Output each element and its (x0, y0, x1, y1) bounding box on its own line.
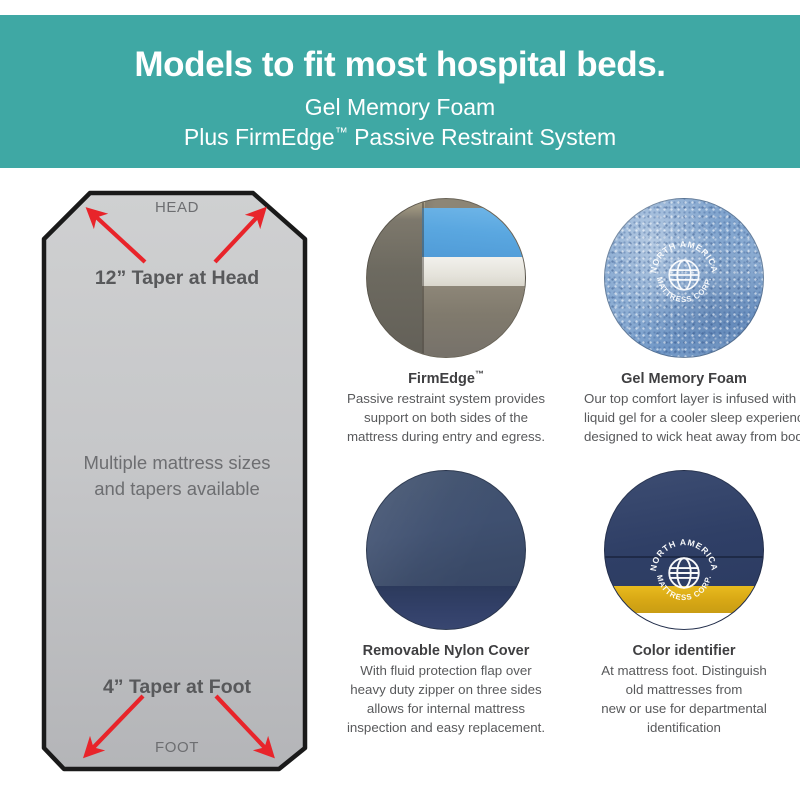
desc-line: old mattresses from (584, 681, 784, 700)
banner-subtitle: Gel Memory Foam Plus FirmEdge™ Passive R… (0, 83, 800, 153)
desc-line: heavy duty zipper on three sides (346, 681, 546, 700)
feature-description-removable-nylon-cover: With fluid protection flap over heavy du… (346, 662, 546, 738)
white-base-band (604, 613, 764, 630)
color-identifier-photo: NORTH AMERICA MATTRESS CORP. (604, 470, 764, 630)
north-america-mattress-corp-logo-icon: NORTH AMERICA MATTRESS CORP. (643, 532, 725, 614)
feature-firmedge: FirmEdge™ Passive restraint system provi… (346, 190, 546, 447)
svg-text:NORTH AMERICA: NORTH AMERICA (648, 537, 720, 572)
desc-line: Our top comfort layer is infused with (584, 390, 784, 409)
desc-line: allows for internal mattress (346, 700, 546, 719)
firmedge-foam-layers-photo (366, 198, 526, 358)
mattress-diagram: HEAD 12” Taper at Head Multiple mattress… (38, 186, 316, 776)
mattress-center-note: Multiple mattress sizes and tapers avail… (38, 450, 316, 503)
feature-gel-memory-foam: NORTH AMERICA MATTRESS CORP. Gel Memory … (584, 190, 784, 447)
svg-text:NORTH AMERICA: NORTH AMERICA (648, 239, 720, 274)
feature-title-text: FirmEdge (408, 371, 475, 387)
feature-grid: FirmEdge™ Passive restraint system provi… (330, 190, 800, 780)
foam-layer-grey (422, 286, 525, 358)
feature-description-color-identifier: At mattress foot. Distinguish old mattre… (584, 662, 784, 738)
banner-subtitle-line-1: Gel Memory Foam (0, 92, 800, 122)
trademark-symbol: ™ (475, 369, 484, 379)
desc-line: support on both sides of the (346, 409, 546, 428)
feature-title-text: Color identifier (632, 643, 735, 659)
banner-subtitle-line-2-after: Passive Restraint System (348, 124, 616, 150)
mattress-center-note-line-2: and tapers available (38, 476, 316, 502)
desc-line: liquid gel for a cooler sleep experience (584, 409, 784, 428)
nylon-lower-panel (366, 586, 526, 630)
foam-layer-white (422, 257, 525, 289)
mattress-foot-label: FOOT (38, 739, 316, 756)
feature-removable-nylon-cover: Removable Nylon Cover With fluid protect… (346, 462, 546, 738)
mattress-taper-head-label: 12” Taper at Head (38, 267, 316, 290)
feature-title-text: Removable Nylon Cover (363, 643, 530, 659)
mattress-head-label: HEAD (38, 199, 316, 216)
desc-line: With fluid protection flap over (346, 662, 546, 681)
feature-title-text: Gel Memory Foam (621, 371, 747, 387)
feature-description-gel-memory-foam: Our top comfort layer is infused with li… (584, 390, 784, 447)
desc-line: Passive restraint system provides (346, 390, 546, 409)
nylon-sheen-highlight (367, 471, 525, 588)
header-banner: Models to fit most hospital beds. Gel Me… (0, 15, 800, 168)
trademark-symbol: ™ (335, 124, 348, 139)
foam-seam-line (422, 199, 424, 357)
feature-color-identifier: NORTH AMERICA MATTRESS CORP. Color ident… (584, 462, 784, 738)
mattress-center-note-line-1: Multiple mattress sizes (38, 450, 316, 476)
feature-title-removable-nylon-cover: Removable Nylon Cover (346, 642, 546, 660)
feature-title-color-identifier: Color identifier (584, 642, 784, 660)
feature-title-firmedge: FirmEdge™ (346, 370, 546, 388)
north-america-mattress-corp-logo-icon: NORTH AMERICA MATTRESS CORP. (643, 234, 725, 316)
removable-nylon-cover-photo (366, 470, 526, 630)
mattress-taper-foot-label: 4” Taper at Foot (38, 676, 316, 699)
feature-title-gel-memory-foam: Gel Memory Foam (584, 370, 784, 388)
feature-description-firmedge: Passive restraint system provides suppor… (346, 390, 546, 447)
desc-line: identification (584, 719, 784, 738)
page-title: Models to fit most hospital beds. (0, 15, 800, 83)
desc-line: inspection and easy replacement. (346, 719, 546, 738)
banner-subtitle-line-2: Plus FirmEdge™ Passive Restraint System (0, 122, 800, 152)
desc-line: mattress during entry and egress. (346, 428, 546, 447)
foam-side-edge (367, 199, 425, 357)
desc-line: At mattress foot. Distinguish (584, 662, 784, 681)
foam-layer-blue (422, 208, 525, 260)
desc-line: new or use for departmental (584, 700, 784, 719)
desc-line: designed to wick heat away from body (584, 428, 784, 447)
gel-memory-foam-photo: NORTH AMERICA MATTRESS CORP. (604, 198, 764, 358)
banner-subtitle-line-2-before: Plus FirmEdge (184, 124, 335, 150)
